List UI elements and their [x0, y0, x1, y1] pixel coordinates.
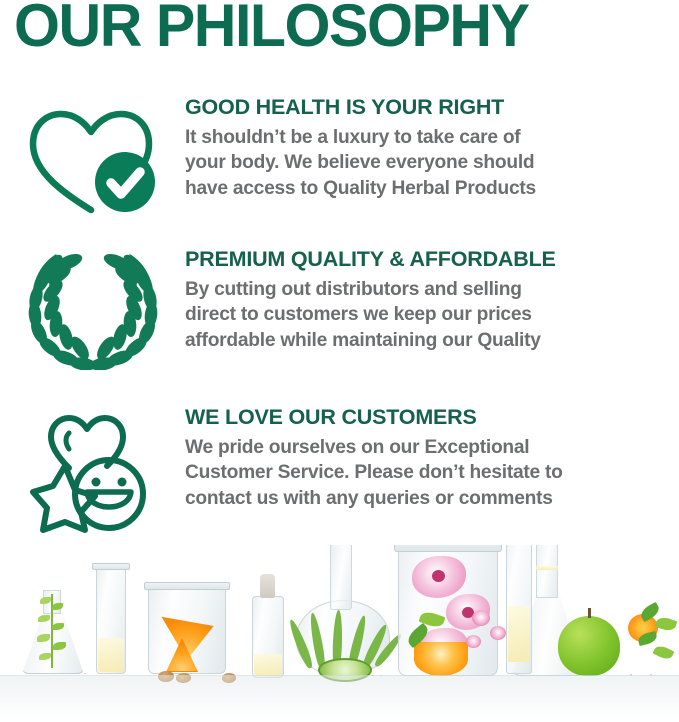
dropper-bulb	[260, 574, 275, 598]
feature-body-line: your body. We believe everyone should	[185, 150, 671, 176]
feature-heading: GOOD HEALTH IS YOUR RIGHT	[185, 96, 671, 120]
heart-star-smiley-icon	[0, 406, 185, 534]
flask-neck	[330, 545, 352, 610]
feature-body: By cutting out distributors and selling …	[185, 277, 671, 354]
feature-body-line: contact us with any queries or comments	[185, 486, 671, 512]
beaker-rim	[144, 582, 230, 590]
flask-with-leaves	[84, 673, 86, 674]
ingredients-photo	[0, 545, 679, 722]
bottle-liquid	[254, 654, 282, 676]
erlenmeyer-flask-with-herb-sprig	[22, 610, 84, 674]
halved-orange	[414, 642, 468, 676]
jar-lid	[394, 545, 502, 552]
feature-row: PREMIUM QUALITY & AFFORDABLE By cutting …	[0, 248, 679, 406]
feature-body: It shouldn’t be a luxury to take care of…	[185, 125, 671, 202]
feature-body-line: have access to Quality Herbal Products	[185, 176, 671, 202]
mint-leaf	[653, 643, 675, 661]
pink-flower	[466, 635, 481, 648]
pink-flower	[472, 610, 490, 626]
feature-text: PREMIUM QUALITY & AFFORDABLE By cutting …	[185, 248, 679, 354]
feature-body: We pride ourselves on our Exceptional Cu…	[185, 435, 671, 512]
heart-check-icon	[0, 96, 185, 218]
flask-graduation-mark	[536, 566, 558, 570]
feature-heading: PREMIUM QUALITY & AFFORDABLE	[185, 248, 671, 272]
cylinder-rim	[92, 563, 130, 570]
laurel-wreath-icon	[0, 248, 185, 370]
feature-body-line: direct to customers we keep our prices	[185, 302, 671, 328]
feature-row: WE LOVE OUR CUSTOMERS We pride ourselves…	[0, 406, 679, 556]
philosophy-feature-list: GOOD HEALTH IS YOUR RIGHT It shouldn’t b…	[0, 96, 679, 556]
feature-body-line: Customer Service. Please don’t hesitate …	[185, 460, 671, 486]
feature-body-line: We pride ourselves on our Exceptional	[185, 435, 671, 461]
green-apple	[558, 616, 620, 676]
cylinder-liquid	[98, 638, 124, 672]
apple-stem	[588, 608, 591, 618]
mint-leaf	[655, 615, 678, 633]
page-title: OUR PHILOSOPHY	[14, 0, 664, 59]
orchid-center	[432, 570, 445, 582]
feature-body-line: By cutting out distributors and selling	[185, 277, 671, 303]
table-reflection	[0, 676, 679, 722]
pink-flower	[490, 626, 506, 640]
photo-scene	[0, 545, 679, 722]
herb-leaf	[52, 603, 63, 610]
feature-text: WE LOVE OUR CUSTOMERS We pride ourselves…	[185, 406, 679, 512]
feature-text: GOOD HEALTH IS YOUR RIGHT It shouldn’t b…	[185, 96, 679, 202]
feature-row: GOOD HEALTH IS YOUR RIGHT It shouldn’t b…	[0, 96, 679, 248]
cylinder-graduations	[508, 606, 530, 662]
flask-neck	[536, 545, 558, 598]
feature-body-line: It shouldn’t be a luxury to take care of	[185, 125, 671, 151]
feature-body-line: affordable while maintaining our Quality	[185, 328, 671, 354]
feature-heading: WE LOVE OUR CUSTOMERS	[185, 406, 671, 430]
